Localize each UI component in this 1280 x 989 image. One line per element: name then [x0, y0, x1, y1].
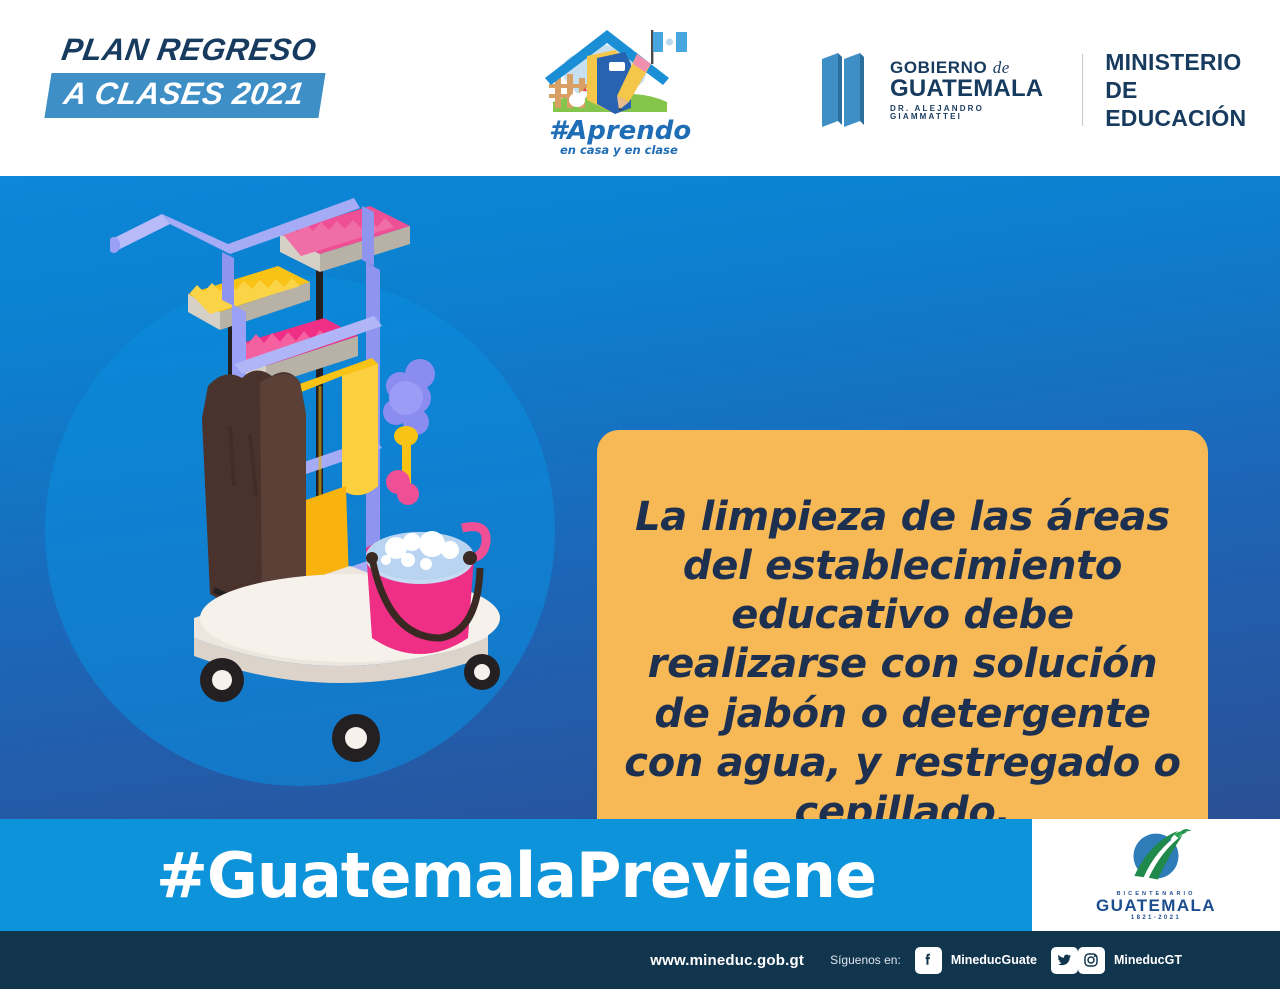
government-line2: GUATEMALA: [890, 76, 1060, 101]
main-stage: La limpieza de las áreas del establecimi…: [0, 176, 1280, 819]
twitter-icon[interactable]: [1051, 947, 1078, 974]
poster-root: PLAN REGRESO A CLASES 2021: [0, 0, 1280, 989]
aprendo-logo-svg: #Aprendo en casa y en clase: [519, 16, 699, 161]
bicentenario-emblem-icon: [1102, 829, 1210, 885]
cleaning-cart-icon: [110, 186, 540, 806]
government-line1: GOBIERNO de: [890, 59, 1060, 76]
aprendo-wordmark: #Aprendo: [549, 116, 691, 146]
message-text: La limpieza de las áreas del establecimi…: [597, 493, 1208, 819]
instagram-icon[interactable]: [1078, 947, 1105, 974]
bicentenario-logo-box: BICENTENARIO GUATEMALA 1821-2021: [1032, 819, 1280, 931]
duster-pink-icon: [386, 470, 419, 505]
hashtag-text: #GuatemalaPreviene: [0, 819, 1032, 931]
aprendo-tagline: en casa y en clase: [560, 143, 678, 157]
header-bar: PLAN REGRESO A CLASES 2021: [0, 0, 1280, 176]
government-lockup: GOBIERNO de GUATEMALA DR. ALEJANDRO GIAM…: [818, 50, 1280, 130]
campaign-lockup: PLAN REGRESO A CLASES 2021: [48, 34, 388, 117]
footer-bar: www.mineduc.gob.gt Síguenos en: MineducG…: [0, 931, 1280, 989]
campaign-title-line2: A CLASES 2021: [62, 78, 307, 111]
government-bars-icon: [818, 51, 876, 129]
instagram-handle[interactable]: MineducGT: [1114, 953, 1182, 967]
campaign-title-line1: PLAN REGRESO: [45, 34, 390, 67]
government-text-block: GOBIERNO de GUATEMALA DR. ALEJANDRO GIAM…: [890, 59, 1060, 120]
ministry-line1: MINISTERIO DE: [1105, 48, 1280, 104]
ministry-line2: EDUCACIÓN: [1105, 104, 1280, 132]
bicentenario-country: GUATEMALA: [1091, 897, 1221, 915]
follow-label: Síguenos en:: [830, 953, 901, 967]
website-url[interactable]: www.mineduc.gob.gt: [650, 952, 804, 969]
ministry-name: MINISTERIO DE EDUCACIÓN: [1105, 48, 1280, 132]
message-card: La limpieza de las áreas del establecimi…: [597, 430, 1208, 819]
bicentenario-years: 1821-2021: [1091, 915, 1221, 921]
bicentenario-logo: BICENTENARIO GUATEMALA 1821-2021: [1091, 829, 1221, 922]
facebook-handle[interactable]: MineducGuate: [951, 953, 1037, 967]
facebook-icon[interactable]: [915, 947, 942, 974]
government-president: DR. ALEJANDRO GIAMMATTEI: [890, 105, 1060, 121]
bucket-pink-icon: [366, 527, 486, 654]
lockup-divider: [1082, 54, 1083, 126]
trash-bag-icon: [202, 370, 308, 609]
aprendo-logo: #Aprendo en casa y en clase: [519, 16, 699, 161]
footer-content: www.mineduc.gob.gt Síguenos en: MineducG…: [650, 931, 1196, 989]
campaign-title-banner: A CLASES 2021: [44, 73, 325, 118]
